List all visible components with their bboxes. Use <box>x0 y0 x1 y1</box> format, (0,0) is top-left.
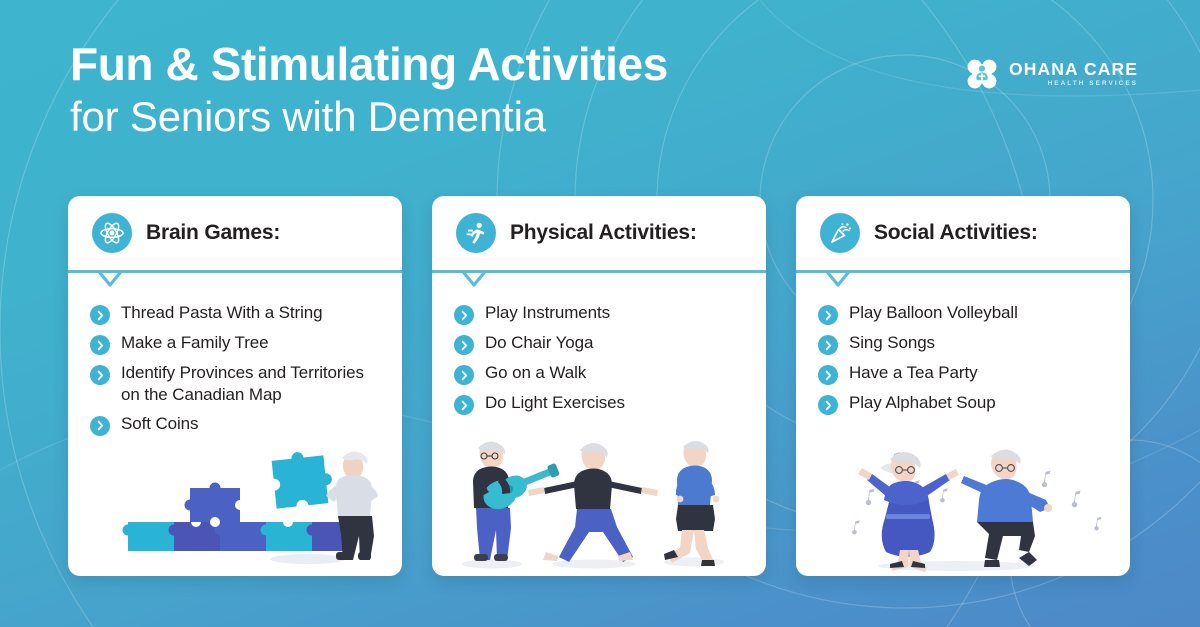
page-title-line-1: Fun & Stimulating Activities <box>70 40 890 90</box>
list-item[interactable]: Make a Family Tree <box>90 332 382 355</box>
list-item-label: Identify Provinces and Territories on th… <box>121 362 382 406</box>
chevron-right-bullet-icon <box>818 305 838 325</box>
list-item[interactable]: Sing Songs <box>818 332 1110 355</box>
logo-name: Ohana Care <box>1009 61 1138 79</box>
dancing-couple-illustration <box>796 426 1130 576</box>
brand-logo[interactable]: Ohana Care HEALTH SERVICES <box>964 56 1138 92</box>
chevron-right-bullet-icon <box>454 335 474 355</box>
list-item-label: Sing Songs <box>849 332 935 354</box>
cards-row: Brain Games: Thread Pasta With a String <box>68 196 1132 576</box>
card-header: Brain Games: <box>68 196 402 270</box>
chevron-down-icon <box>462 272 486 287</box>
card-physical-activities[interactable]: Physical Activities: Play Instruments <box>432 196 766 576</box>
list-item-label: Make a Family Tree <box>121 332 268 354</box>
atom-icon <box>92 213 132 253</box>
list-item-label: Play Alphabet Soup <box>849 392 996 414</box>
list-item[interactable]: Identify Provinces and Territories on th… <box>90 362 382 406</box>
card-social-activities[interactable]: Social Activities: Play Balloon Volleyba… <box>796 196 1130 576</box>
header: Fun & Stimulating Activities for Seniors… <box>70 40 890 140</box>
activity-list: Play Instruments Do Chair Yoga Go on a W… <box>432 286 766 415</box>
chevron-right-bullet-icon <box>90 335 110 355</box>
chevron-right-bullet-icon <box>454 395 474 415</box>
jigsaw-puzzle-illustration <box>68 426 402 576</box>
list-item[interactable]: Thread Pasta With a String <box>90 302 382 325</box>
running-person-icon <box>456 213 496 253</box>
chevron-right-bullet-icon <box>818 395 838 415</box>
list-item-label: Thread Pasta With a String <box>121 302 323 324</box>
card-title: Physical Activities: <box>510 221 697 245</box>
party-popper-icon <box>820 213 860 253</box>
card-divider <box>796 270 1130 286</box>
page-title-line-2: for Seniors with Dementia <box>70 94 890 140</box>
chevron-right-bullet-icon <box>818 365 838 385</box>
list-item-label: Have a Tea Party <box>849 362 978 384</box>
list-item-label: Do Light Exercises <box>485 392 625 414</box>
logo-tagline: HEALTH SERVICES <box>1009 81 1138 88</box>
card-title: Brain Games: <box>146 221 280 245</box>
list-item[interactable]: Play Instruments <box>454 302 746 325</box>
list-item[interactable]: Play Balloon Volleyball <box>818 302 1110 325</box>
clover-family-icon <box>964 56 1000 92</box>
chevron-right-bullet-icon <box>90 305 110 325</box>
list-item[interactable]: Do Chair Yoga <box>454 332 746 355</box>
list-item-label: Do Chair Yoga <box>485 332 593 354</box>
list-item[interactable]: Go on a Walk <box>454 362 746 385</box>
list-item[interactable]: Do Light Exercises <box>454 392 746 415</box>
list-item-label: Play Instruments <box>485 302 610 324</box>
list-item-label: Soft Coins <box>121 413 198 435</box>
list-item[interactable]: Have a Tea Party <box>818 362 1110 385</box>
chevron-right-bullet-icon <box>90 416 110 436</box>
chevron-down-icon <box>98 272 122 287</box>
card-divider <box>432 270 766 286</box>
card-divider <box>68 270 402 286</box>
list-item-label: Play Balloon Volleyball <box>849 302 1018 324</box>
chevron-right-bullet-icon <box>90 365 110 385</box>
exercising-seniors-illustration <box>432 426 766 576</box>
chevron-right-bullet-icon <box>818 335 838 355</box>
chevron-right-bullet-icon <box>454 305 474 325</box>
card-header: Social Activities: <box>796 196 1130 270</box>
card-title: Social Activities: <box>874 221 1038 245</box>
logo-text-block: Ohana Care HEALTH SERVICES <box>1009 61 1138 88</box>
list-item[interactable]: Play Alphabet Soup <box>818 392 1110 415</box>
list-item-label: Go on a Walk <box>485 362 586 384</box>
list-item[interactable]: Soft Coins <box>90 413 382 436</box>
chevron-right-bullet-icon <box>454 365 474 385</box>
activity-list: Thread Pasta With a String Make a Family… <box>68 286 402 436</box>
infographic-poster: Fun & Stimulating Activities for Seniors… <box>0 0 1200 627</box>
activity-list: Play Balloon Volleyball Sing Songs Have … <box>796 286 1130 415</box>
chevron-down-icon <box>826 272 850 287</box>
card-brain-games[interactable]: Brain Games: Thread Pasta With a String <box>68 196 402 576</box>
card-header: Physical Activities: <box>432 196 766 270</box>
